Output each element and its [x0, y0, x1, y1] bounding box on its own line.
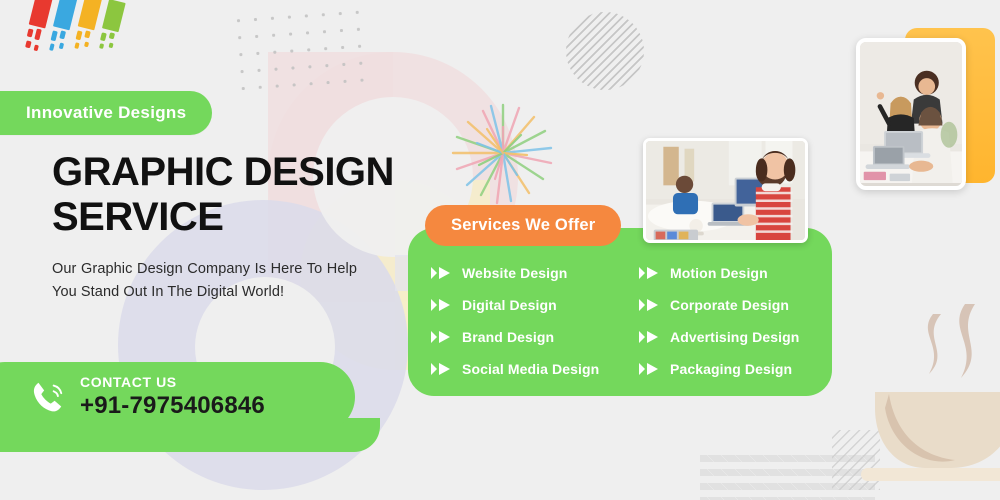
diagonal-hatch-icon [832, 430, 880, 490]
striped-circle-icon [566, 12, 644, 90]
contact-us-button[interactable]: CONTACT US +91-7975406846 [0, 362, 355, 432]
graphic-design-service-banner: Innovative Designs GRAPHIC DESIGN SERVIC… [0, 0, 1000, 500]
list-item[interactable]: Advertising Design [638, 326, 820, 348]
list-item[interactable]: Website Design [430, 262, 638, 284]
double-arrow-icon [430, 298, 452, 312]
list-item[interactable]: Social Media Design [430, 358, 638, 380]
office-team-photo [643, 138, 808, 243]
list-item[interactable]: Motion Design [638, 262, 820, 284]
double-arrow-icon [638, 330, 660, 344]
contact-us-label: CONTACT US [80, 374, 265, 391]
service-label: Digital Design [462, 297, 557, 313]
zigzag-pattern-icon [700, 455, 875, 500]
contact-text-block: CONTACT US +91-7975406846 [80, 374, 265, 421]
innovative-designs-badge[interactable]: Innovative Designs [0, 91, 212, 135]
list-item[interactable]: Digital Design [430, 294, 638, 316]
list-item[interactable]: Packaging Design [638, 358, 820, 380]
hero-subtext: Our Graphic Design Company Is Here To He… [52, 258, 357, 305]
double-arrow-icon [638, 266, 660, 280]
double-arrow-icon [430, 362, 452, 376]
three-women-working-photo [856, 38, 966, 190]
double-arrow-icon [430, 330, 452, 344]
double-arrow-icon [430, 266, 452, 280]
brush-strokes-logo-icon [14, 0, 154, 70]
double-arrow-icon [638, 298, 660, 312]
service-label: Website Design [462, 265, 567, 281]
three-women-photo-art [860, 42, 962, 183]
service-label: Corporate Design [670, 297, 789, 313]
double-arrow-icon [638, 362, 660, 376]
page-title: GRAPHIC DESIGN SERVICE [52, 152, 472, 238]
service-label: Packaging Design [670, 361, 792, 377]
phone-number[interactable]: +91-7975406846 [80, 392, 265, 420]
phone-icon [28, 378, 66, 416]
headline-line-1: GRAPHIC DESIGN [52, 152, 472, 193]
services-list: Website Design Motion Design Digital Des… [430, 262, 820, 380]
dot-grid-icon [229, 3, 369, 90]
headline-line-2: SERVICE [52, 197, 472, 238]
coffee-cup-icon [855, 300, 1000, 490]
service-label: Social Media Design [462, 361, 599, 377]
list-item[interactable]: Brand Design [430, 326, 638, 348]
service-label: Brand Design [462, 329, 554, 345]
office-team-photo-art [646, 141, 805, 242]
service-label: Motion Design [670, 265, 768, 281]
service-label: Advertising Design [670, 329, 799, 345]
list-item[interactable]: Corporate Design [638, 294, 820, 316]
services-we-offer-badge: Services We Offer [425, 205, 621, 246]
